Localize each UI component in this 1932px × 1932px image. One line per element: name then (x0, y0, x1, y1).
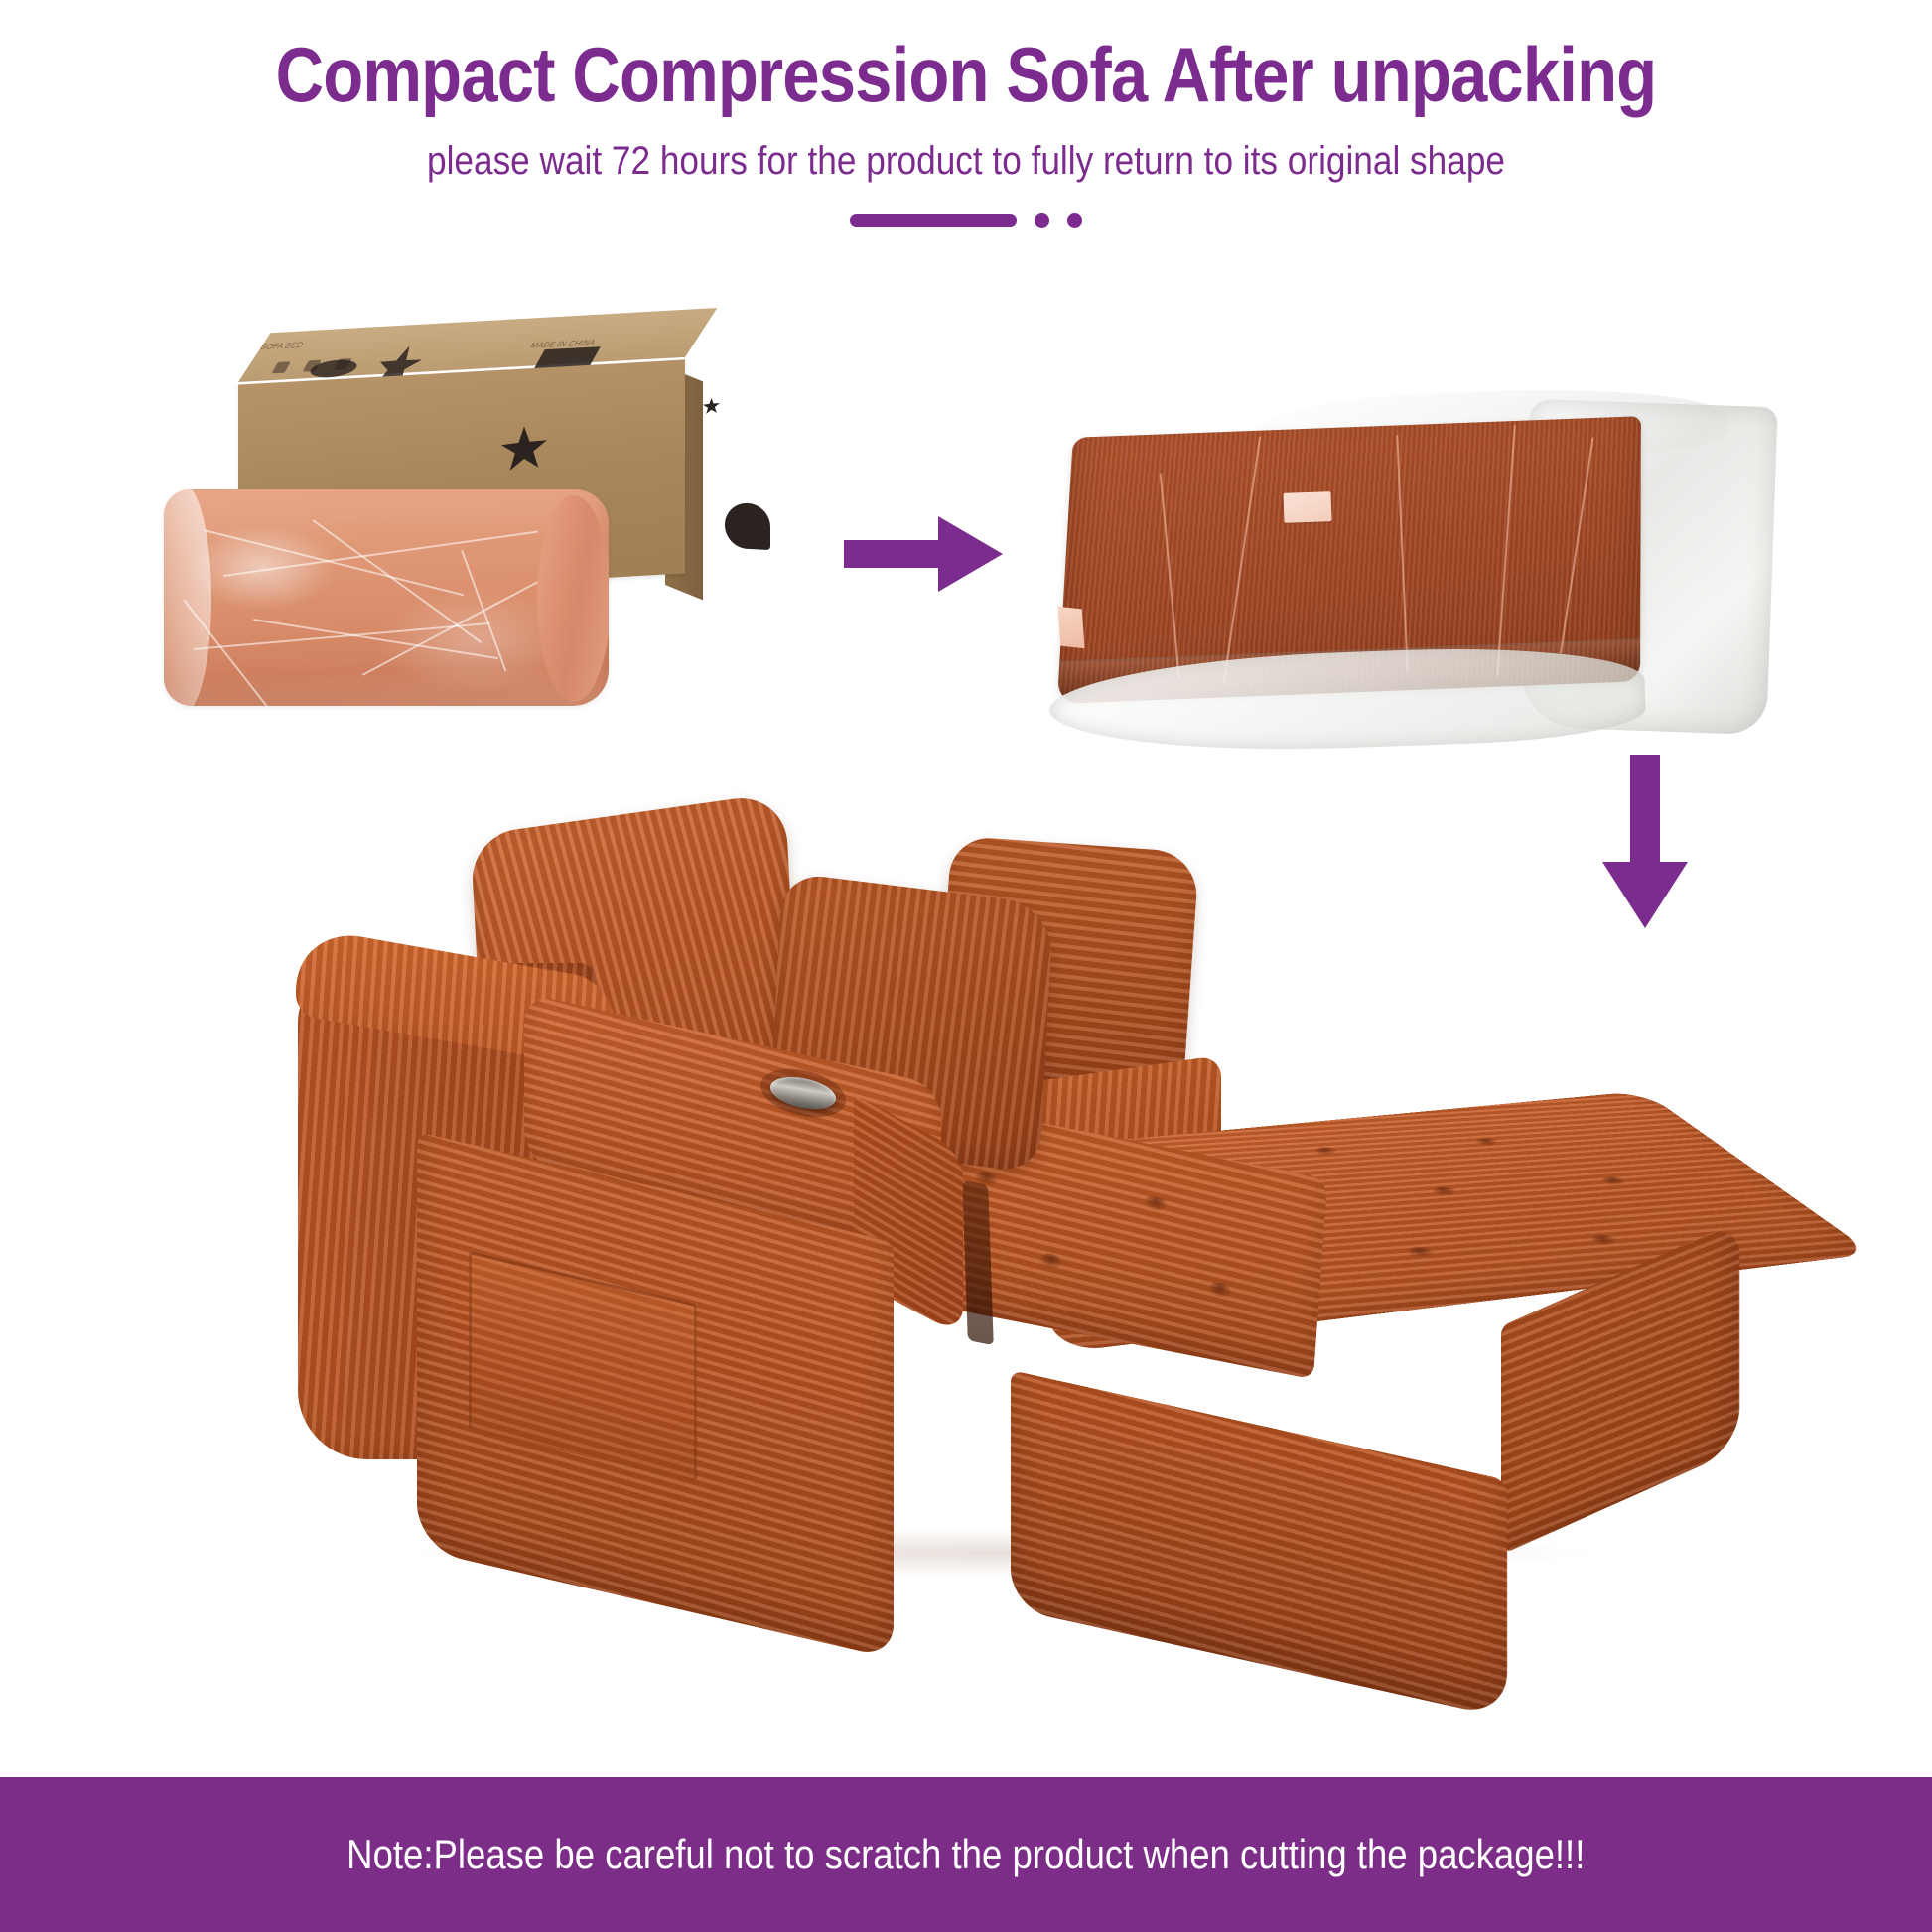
dot-icon (725, 502, 770, 550)
plastic-wrapped-rolled-sofa (164, 489, 609, 706)
arrow-right-icon (844, 514, 1003, 594)
roll-side-cap (537, 495, 609, 702)
page-title: Compact Compression Sofa After unpacking (135, 30, 1797, 120)
divider-dot-icon (1067, 213, 1082, 228)
star-icon (501, 424, 547, 473)
header: Compact Compression Sofa After unpacking… (0, 0, 1932, 248)
footer-note-banner: Note:Please be careful not to scratch th… (0, 1777, 1932, 1932)
compressed-sofa-corner (1057, 607, 1084, 648)
star-icon (703, 397, 720, 415)
footer-note-text: Note:Please be careful not to scratch th… (346, 1831, 1585, 1878)
divider-dot-icon (1035, 213, 1049, 228)
infographic-page: Compact Compression Sofa After unpacking… (0, 0, 1932, 1932)
roll-end-cap (164, 489, 211, 706)
page-subtitle: please wait 72 hours for the product to … (116, 139, 1816, 184)
white-product-label (1283, 491, 1331, 523)
corduroy-texture (1011, 1370, 1507, 1719)
step-expanded-sofa (298, 834, 1708, 1588)
divider-bar-icon (850, 214, 1017, 227)
divider (0, 213, 1932, 228)
ottoman-front-panel (1011, 1370, 1507, 1719)
step-boxed-compressed-sofa: SOFA BED MADE IN CHINA (164, 372, 735, 740)
step-vacuum-sealed-sofa (1037, 397, 1772, 740)
